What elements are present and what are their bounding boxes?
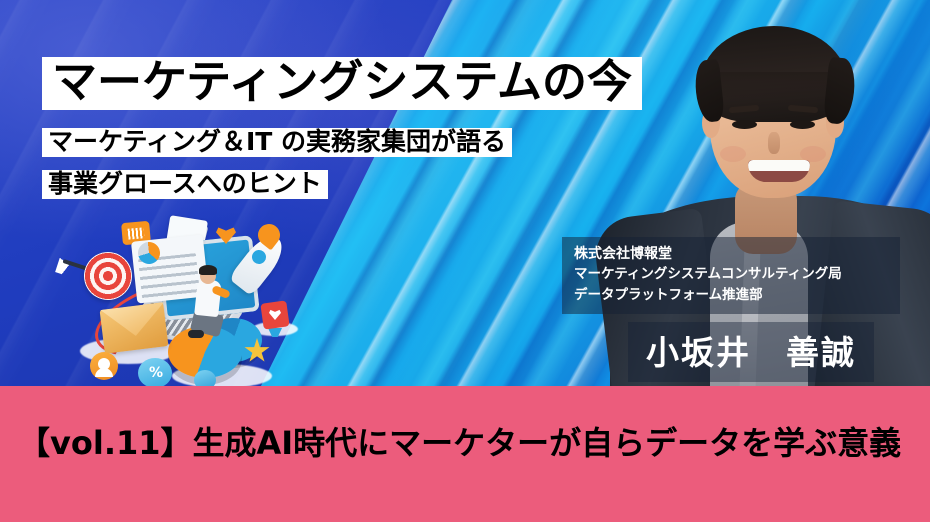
portrait-eye-right [790,120,815,129]
portrait-hair-side-right [823,57,858,126]
subtitle-band-line2: 事業グロースへのヒント [42,170,328,199]
speaker-affiliation-box: 株式会社博報堂 マーケティングシステムコンサルティング局 データプラットフォーム… [562,237,900,314]
person-shoe [188,330,204,338]
speaker-name: 小坂井 善誠 [646,333,856,372]
main-title-text: マーケティングシステムの今 [52,59,632,104]
speaker-department: データプラットフォーム推進部 [574,285,890,305]
subtitle-band-line1: マーケティング＆IT の実務家集団が語る [42,128,512,157]
person-hair [199,265,217,275]
person-body [194,279,222,317]
speaker-name-band: 小坂井 善誠 [628,322,874,382]
speaker-company: 株式会社博報堂 [574,244,890,264]
portrait-eye-left [732,120,757,129]
portrait-nose [768,132,780,154]
percent-badge-label: % [146,364,166,382]
subtitle-text-line1: マーケティング＆IT の実務家集団が語る [48,129,506,154]
subtitle-text-line2: 事業グロースへのヒント [48,171,322,196]
portrait-mouth [748,160,810,182]
speaker-division: マーケティングシステムコンサルティング局 [574,264,890,284]
bar-chart-icon-bars [128,227,145,239]
episode-caption-text: 【vol.11】生成AI時代にマーケターが自らデータを学ぶ意義 [18,418,901,464]
episode-caption-banner: 【vol.11】生成AI時代にマーケターが自らデータを学ぶ意義 [0,386,930,522]
portrait-cheek-left [720,146,746,162]
portrait-teeth [748,160,810,171]
promo-banner-image: マーケティングシステムの今 マーケティング＆IT の実務家集団が語る 事業グロー… [0,0,930,522]
main-title-band: マーケティングシステムの今 [42,57,642,110]
target-bullseye-icon [81,249,135,303]
marketing-illustration: % [76,218,356,388]
